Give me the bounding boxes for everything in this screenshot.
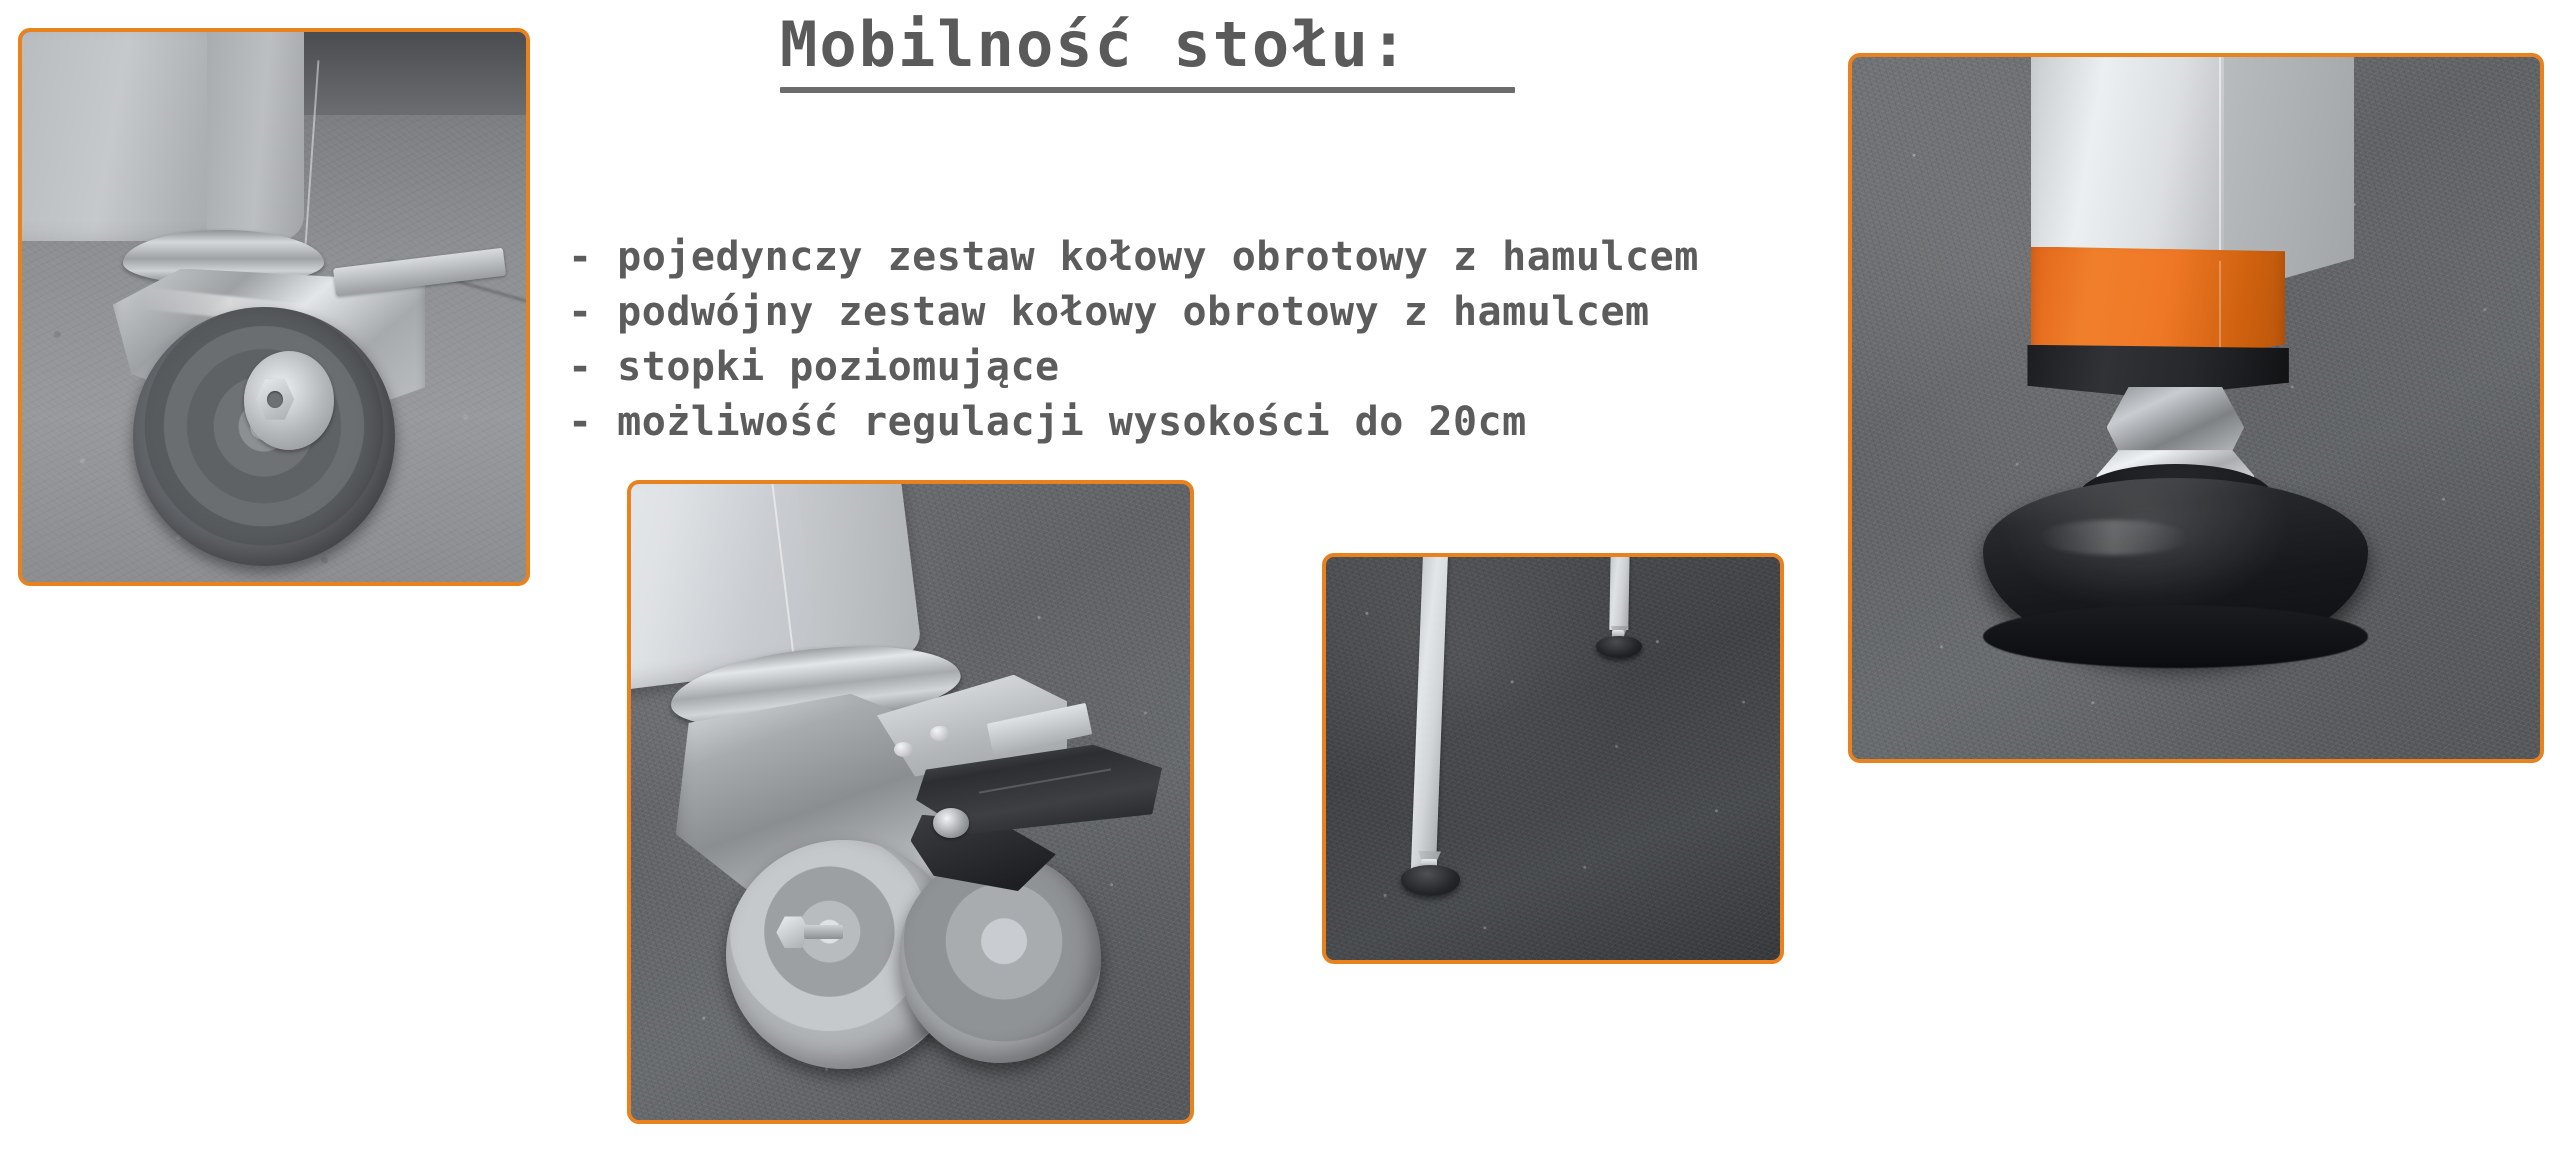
photo-caster-brake	[627, 480, 1194, 1124]
table-leg-end-cap	[794, 484, 922, 666]
photo-legs-carpet-image	[1326, 557, 1780, 960]
table-leg-gray	[22, 32, 304, 241]
title-underline	[780, 87, 1515, 93]
photo-leveling-foot	[1848, 53, 2544, 763]
caster-rivet-icon	[930, 726, 950, 741]
table-leg-highlight-edge	[771, 484, 795, 656]
leveling-foot-back	[1596, 636, 1641, 659]
feature-list: - pojedynczy zestaw kołowy obrotowy z ha…	[568, 230, 1699, 450]
carpet-texture	[1326, 557, 1780, 960]
photo-caster-brake-image	[631, 484, 1190, 1120]
feature-item-4: - możliwość regulacji wysokości do 20cm	[568, 395, 1699, 450]
page-title-block: Mobilność stołu:	[780, 12, 1580, 93]
leveling-foot-rim	[1983, 605, 2368, 668]
photo-caster-concrete-image	[22, 32, 526, 582]
table-leg-back	[1609, 557, 1629, 630]
leveling-foot-front	[1401, 865, 1460, 895]
table-leg-side-face	[207, 32, 304, 241]
caster-rivet-icon	[894, 742, 914, 757]
photo-leveling-foot-image	[1852, 57, 2540, 759]
feature-item-2: - podwójny zestaw kołowy obrotowy z hamu…	[568, 285, 1699, 340]
caster-axle-stem	[804, 925, 843, 939]
caster-brake-bolt	[933, 808, 969, 837]
page-title: Mobilność stołu:	[780, 12, 1409, 77]
feature-item-1: - pojedynczy zestaw kołowy obrotowy z ha…	[568, 230, 1699, 285]
slide-canvas: Mobilność stołu: - pojedynczy zestaw koł…	[0, 0, 2560, 1159]
photo-caster-concrete	[18, 28, 530, 586]
feature-item-3: - stopki poziomujące	[568, 340, 1699, 395]
photo-legs-carpet	[1322, 553, 1784, 964]
caster-axle-hole	[267, 391, 283, 409]
